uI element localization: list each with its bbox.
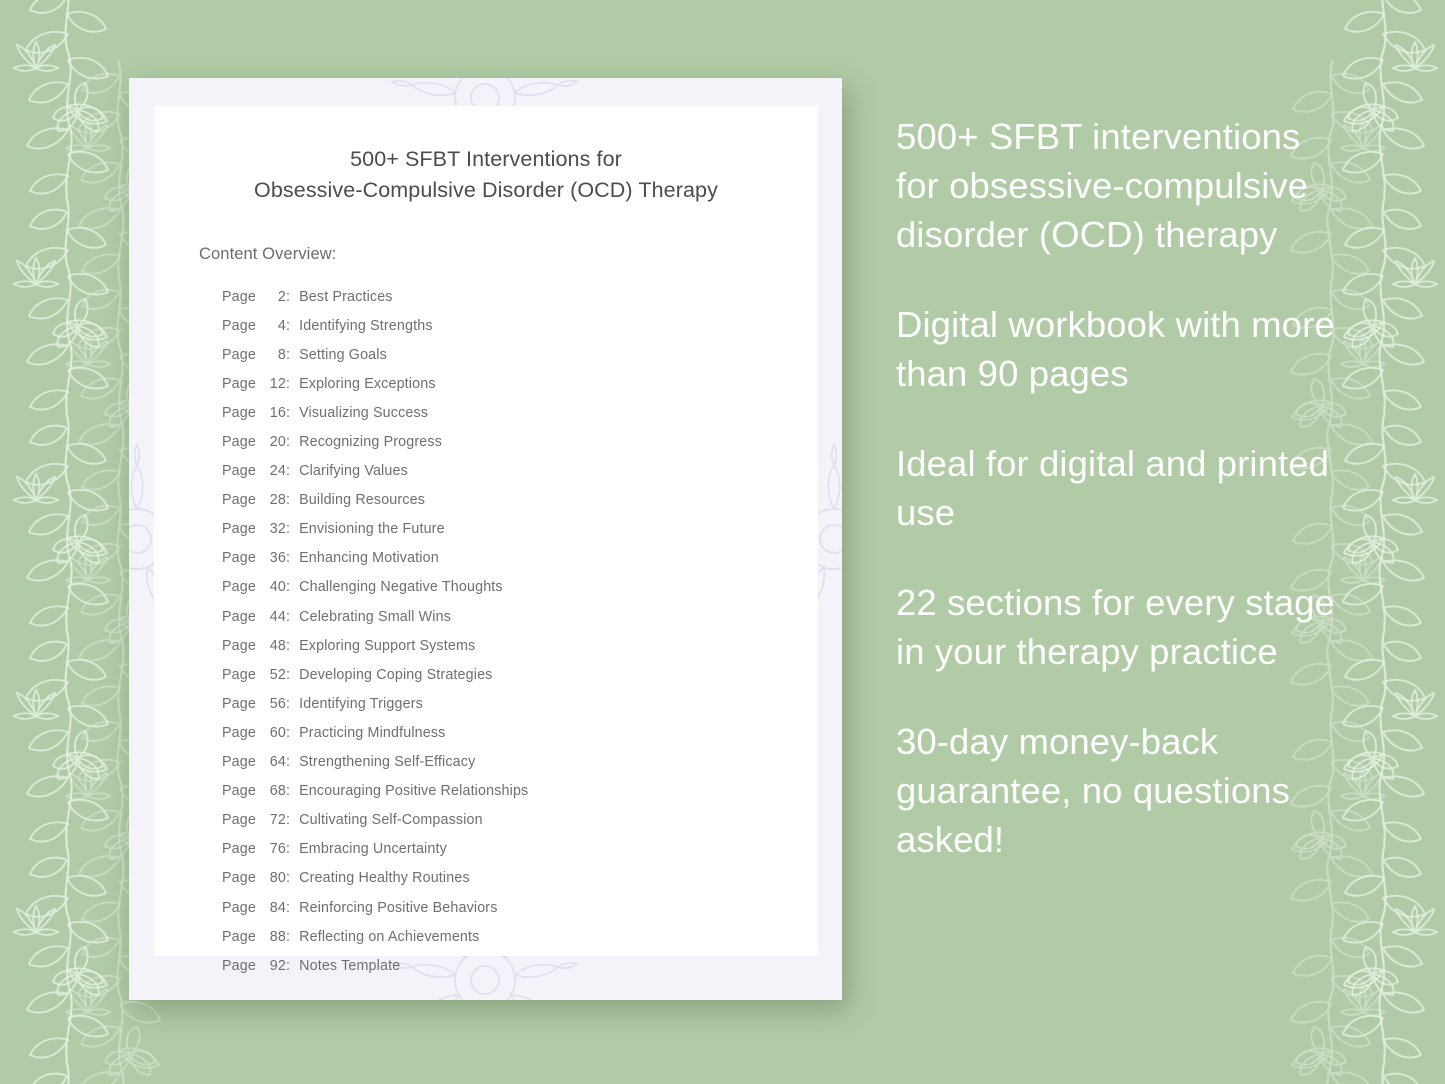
toc-row: Page52:Developing Coping Strategies (222, 660, 782, 689)
toc-row: Page28:Building Resources (222, 486, 782, 515)
toc-colon: : (286, 318, 290, 334)
toc-page-word: Page (222, 550, 256, 566)
toc-colon: : (286, 900, 290, 916)
toc-entry-title: Envisioning the Future (299, 521, 445, 537)
toc-entry-title: Identifying Strengths (299, 318, 433, 334)
toc-row: Page12:Exploring Exceptions (222, 369, 782, 398)
toc-page-word: Page (222, 434, 256, 450)
toc-page-word: Page (222, 841, 256, 857)
toc-entry-title: Strengthening Self-Efficacy (299, 754, 475, 770)
toc-colon: : (286, 579, 290, 595)
toc-row: Page32:Envisioning the Future (222, 515, 782, 544)
toc-page-word: Page (222, 463, 256, 479)
toc-page-number: 88 (260, 929, 286, 945)
toc-row: Page68:Encouraging Positive Relationship… (222, 777, 782, 806)
toc-entry-title: Identifying Triggers (299, 696, 423, 712)
toc-colon: : (286, 725, 290, 741)
toc-colon: : (286, 696, 290, 712)
toc-page-number: 40 (260, 579, 286, 595)
toc-page-number: 16 (260, 405, 286, 421)
toc-colon: : (286, 783, 290, 799)
toc-page-word: Page (222, 870, 256, 886)
toc-row: Page40:Challenging Negative Thoughts (222, 573, 782, 602)
toc-row: Page36:Enhancing Motivation (222, 544, 782, 573)
toc-entry-title: Exploring Exceptions (299, 376, 436, 392)
toc-page-word: Page (222, 812, 256, 828)
toc-page-word: Page (222, 783, 256, 799)
toc-page-number: 12 (260, 376, 286, 392)
toc-entry-title: Clarifying Values (299, 463, 408, 479)
toc-page-word: Page (222, 318, 256, 334)
marketing-bullet: Digital workbook with more than 90 pages (896, 300, 1348, 398)
page-title: 500+ SFBT Interventions for Obsessive-Co… (154, 144, 818, 206)
toc-entry-title: Best Practices (299, 289, 392, 305)
toc-entry-title: Creating Healthy Routines (299, 870, 470, 886)
toc-colon: : (286, 754, 290, 770)
toc-page-word: Page (222, 667, 256, 683)
toc-row: Page64:Strengthening Self-Efficacy (222, 748, 782, 777)
toc-page-number: 48 (260, 638, 286, 654)
toc-entry-title: Reinforcing Positive Behaviors (299, 900, 497, 916)
toc-page-word: Page (222, 696, 256, 712)
toc-page-word: Page (222, 900, 256, 916)
toc-colon: : (286, 667, 290, 683)
toc-row: Page84:Reinforcing Positive Behaviors (222, 893, 782, 922)
toc-page-number: 44 (260, 609, 286, 625)
toc-row: Page60:Practicing Mindfulness (222, 718, 782, 747)
toc-colon: : (286, 463, 290, 479)
toc-row: Page76:Embracing Uncertainty (222, 835, 782, 864)
toc-row: Page56:Identifying Triggers (222, 689, 782, 718)
toc-page-number: 2 (260, 289, 286, 305)
toc-colon: : (286, 405, 290, 421)
toc-entry-title: Exploring Support Systems (299, 638, 475, 654)
toc-row: Page20:Recognizing Progress (222, 427, 782, 456)
toc-row: Page8:Setting Goals (222, 340, 782, 369)
toc-entry-title: Notes Template (299, 958, 400, 974)
toc-colon: : (286, 958, 290, 974)
marketing-bullet: 500+ SFBT interventions for obsessive-co… (896, 112, 1348, 259)
toc-entry-title: Cultivating Self-Compassion (299, 812, 483, 828)
toc-colon: : (286, 609, 290, 625)
toc-entry-title: Enhancing Motivation (299, 550, 439, 566)
toc-row: Page16:Visualizing Success (222, 398, 782, 427)
toc-colon: : (286, 521, 290, 537)
marketing-column: 500+ SFBT interventions for obsessive-co… (896, 112, 1348, 864)
toc-colon: : (286, 376, 290, 392)
table-of-contents: Page2:Best PracticesPage4:Identifying St… (222, 282, 782, 980)
toc-page-number: 28 (260, 492, 286, 508)
toc-entry-title: Setting Goals (299, 347, 387, 363)
toc-page-word: Page (222, 521, 256, 537)
toc-row: Page2:Best Practices (222, 282, 782, 311)
document-page: 500+ SFBT Interventions for Obsessive-Co… (154, 106, 818, 956)
toc-page-number: 60 (260, 725, 286, 741)
toc-entry-title: Building Resources (299, 492, 425, 508)
toc-colon: : (286, 812, 290, 828)
toc-colon: : (286, 289, 290, 305)
marketing-bullet: 22 sections for every stage in your ther… (896, 578, 1348, 676)
toc-page-number: 64 (260, 754, 286, 770)
toc-page-word: Page (222, 405, 256, 421)
toc-page-word: Page (222, 609, 256, 625)
toc-page-number: 36 (260, 550, 286, 566)
toc-entry-title: Recognizing Progress (299, 434, 442, 450)
content-overview-heading: Content Overview: (199, 245, 336, 264)
toc-row: Page88:Reflecting on Achievements (222, 922, 782, 951)
toc-page-word: Page (222, 579, 256, 595)
toc-page-number: 56 (260, 696, 286, 712)
toc-row: Page48:Exploring Support Systems (222, 631, 782, 660)
toc-entry-title: Embracing Uncertainty (299, 841, 447, 857)
toc-page-number: 8 (260, 347, 286, 363)
toc-page-word: Page (222, 376, 256, 392)
toc-page-number: 80 (260, 870, 286, 886)
toc-entry-title: Celebrating Small Wins (299, 609, 451, 625)
marketing-bullet: 30-day money-back guarantee, no question… (896, 717, 1348, 864)
toc-row: Page92:Notes Template (222, 951, 782, 980)
toc-entry-title: Practicing Mindfulness (299, 725, 445, 741)
toc-colon: : (286, 929, 290, 945)
toc-colon: : (286, 638, 290, 654)
toc-entry-title: Visualizing Success (299, 405, 428, 421)
toc-entry-title: Developing Coping Strategies (299, 667, 492, 683)
toc-row: Page4:Identifying Strengths (222, 311, 782, 340)
toc-entry-title: Encouraging Positive Relationships (299, 783, 528, 799)
toc-page-number: 4 (260, 318, 286, 334)
toc-entry-title: Reflecting on Achievements (299, 929, 479, 945)
toc-entry-title: Challenging Negative Thoughts (299, 579, 503, 595)
toc-page-number: 92 (260, 958, 286, 974)
toc-page-word: Page (222, 492, 256, 508)
toc-page-word: Page (222, 347, 256, 363)
toc-page-number: 84 (260, 900, 286, 916)
toc-page-number: 32 (260, 521, 286, 537)
toc-page-number: 72 (260, 812, 286, 828)
toc-colon: : (286, 434, 290, 450)
toc-page-number: 68 (260, 783, 286, 799)
toc-page-word: Page (222, 289, 256, 305)
toc-page-number: 24 (260, 463, 286, 479)
toc-page-word: Page (222, 958, 256, 974)
toc-page-number: 76 (260, 841, 286, 857)
toc-row: Page44:Celebrating Small Wins (222, 602, 782, 631)
toc-colon: : (286, 347, 290, 363)
toc-colon: : (286, 492, 290, 508)
marketing-bullet: Ideal for digital and printed use (896, 439, 1348, 537)
toc-page-word: Page (222, 725, 256, 741)
toc-page-number: 20 (260, 434, 286, 450)
product-card: 500+ SFBT Interventions for Obsessive-Co… (129, 78, 842, 1000)
toc-row: Page72:Cultivating Self-Compassion (222, 806, 782, 835)
toc-page-word: Page (222, 638, 256, 654)
toc-page-word: Page (222, 929, 256, 945)
toc-colon: : (286, 550, 290, 566)
toc-colon: : (286, 870, 290, 886)
toc-page-number: 52 (260, 667, 286, 683)
toc-page-word: Page (222, 754, 256, 770)
toc-row: Page80:Creating Healthy Routines (222, 864, 782, 893)
toc-colon: : (286, 841, 290, 857)
toc-row: Page24:Clarifying Values (222, 457, 782, 486)
